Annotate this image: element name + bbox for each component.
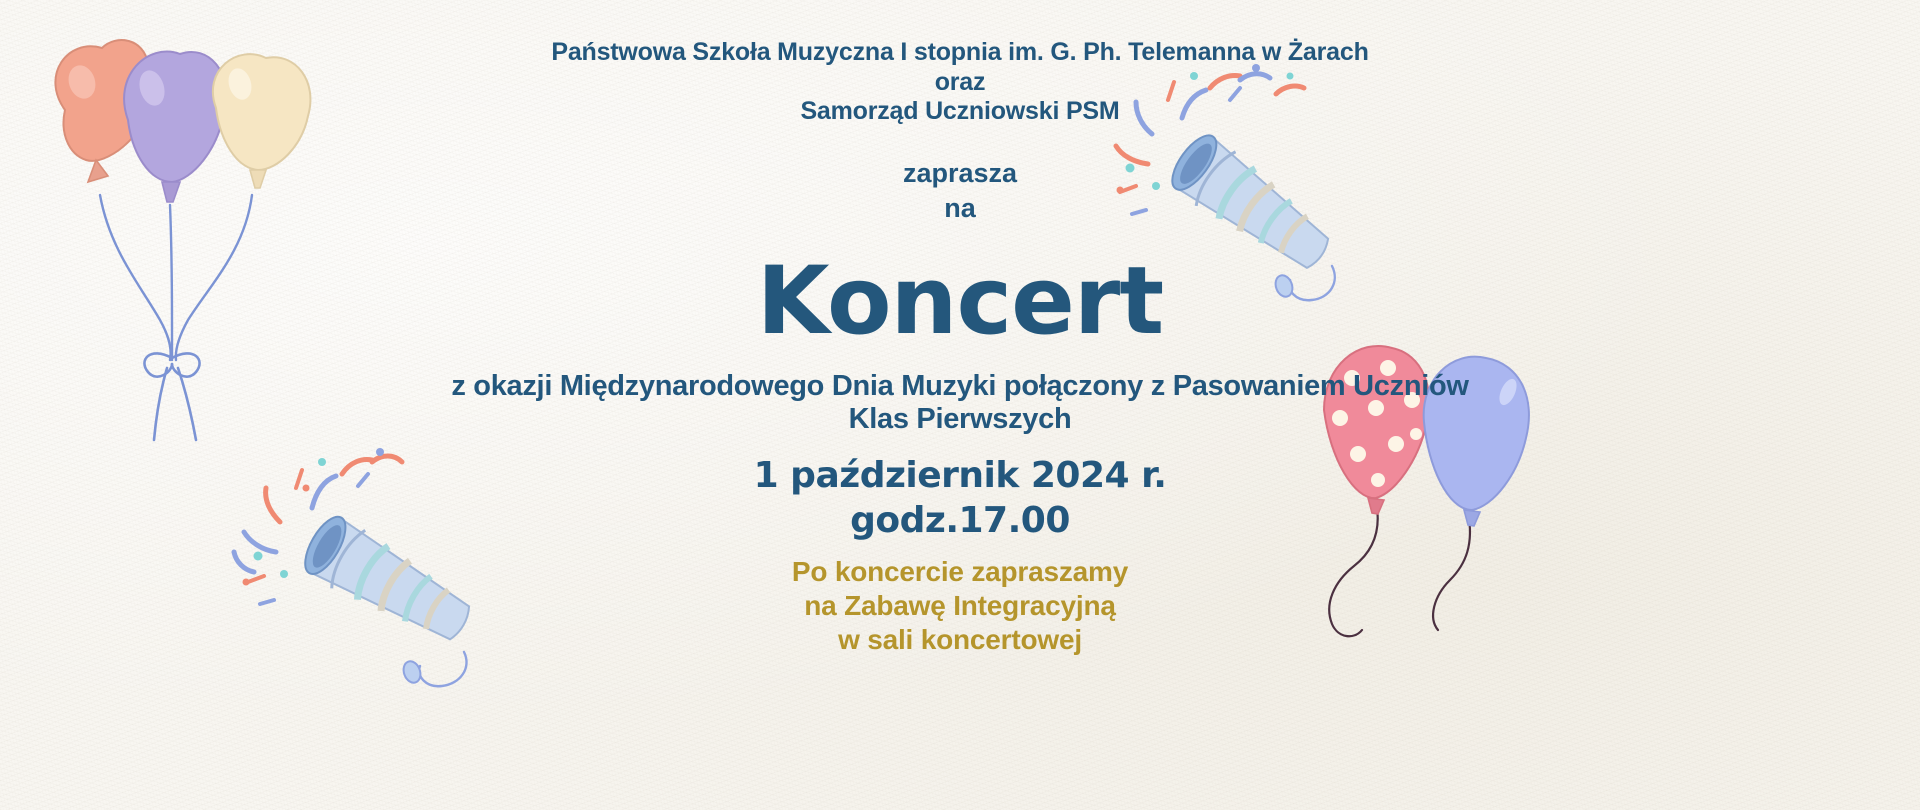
organizer-school-line: Państwowa Szkoła Muzyczna I stopnia im. … [0,38,1920,67]
poster-text-content: Państwowa Szkoła Muzyczna I stopnia im. … [0,0,1920,810]
afterparty-line-3: w sali koncertowej [0,624,1920,656]
organizer-conjunction-line: oraz [0,68,1920,97]
organizer-student-council-line: Samorząd Uczniowski PSM [0,97,1920,126]
invitation-preposition-line: na [0,193,1920,224]
afterparty-line-2: na Zabawę Integracyjną [0,590,1920,622]
event-time: godz.17.00 [0,500,1920,541]
event-date: 1 październik 2024 r. [0,455,1920,496]
headline-koncert: Koncert [0,248,1920,356]
occasion-line-2: Klas Pierwszych [0,403,1920,436]
afterparty-line-1: Po koncercie zapraszamy [0,556,1920,588]
poster-canvas: Państwowa Szkoła Muzyczna I stopnia im. … [0,0,1920,810]
occasion-line-1: z okazji Międzynarodowego Dnia Muzyki po… [0,370,1920,403]
invitation-verb-line: zaprasza [0,158,1920,189]
